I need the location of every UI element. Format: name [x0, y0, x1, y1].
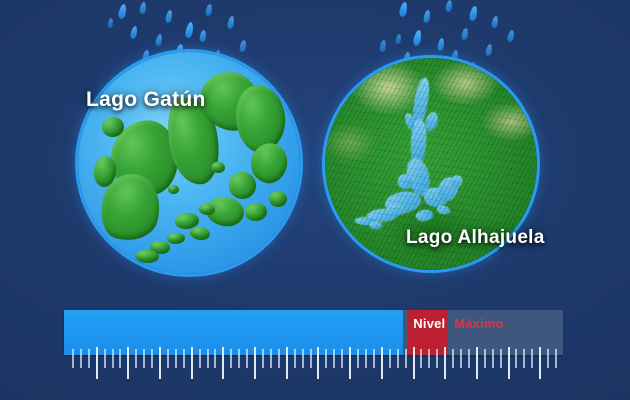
rain-drop-icon	[118, 3, 128, 19]
rain-drop-icon	[399, 1, 409, 17]
rain-drop-icon	[445, 0, 453, 12]
gauge-label-maximo: Máximo	[454, 316, 504, 331]
rain-drop-icon	[227, 16, 235, 30]
rain-drop-icon	[199, 30, 207, 43]
land-mass	[268, 190, 287, 207]
rain-drop-icon	[239, 40, 247, 53]
lake-label-gatun: Lago Gatún	[86, 88, 206, 112]
rain-drop-icon	[469, 5, 479, 21]
lake-map-gatun	[78, 52, 300, 274]
land-mass	[134, 249, 159, 263]
gauge-label-nivel: Nivel	[413, 316, 445, 331]
land-mass	[168, 185, 179, 194]
rain-drop-icon	[491, 16, 499, 29]
rain-drop-icon	[507, 30, 515, 43]
gauge-fill-current-level	[64, 310, 403, 355]
rain-drop-icon	[437, 38, 445, 52]
scene-canvas: Lago Gatún Lago Alhajuela Nivel Máximo	[0, 0, 630, 400]
water-level-gauge[interactable]: Nivel Máximo	[64, 310, 563, 355]
rain-drop-icon	[412, 29, 422, 46]
lake-label-alhajuela: Lago Alhajuela	[406, 227, 545, 249]
rain-drop-icon	[165, 10, 174, 24]
rain-drop-icon	[379, 40, 387, 53]
rain-drop-icon	[423, 10, 431, 24]
rain-drop-icon	[107, 18, 114, 29]
rain-drop-icon	[155, 34, 163, 47]
rain-drop-icon	[395, 34, 402, 45]
rain-drop-icon	[485, 44, 493, 57]
lake-circle-gatun[interactable]	[78, 52, 300, 274]
rain-drop-icon	[130, 26, 139, 40]
rain-drop-icon	[139, 2, 147, 15]
rain-drop-icon	[461, 28, 469, 41]
rain-drop-icon	[205, 4, 213, 17]
rain-drop-icon	[185, 21, 195, 38]
